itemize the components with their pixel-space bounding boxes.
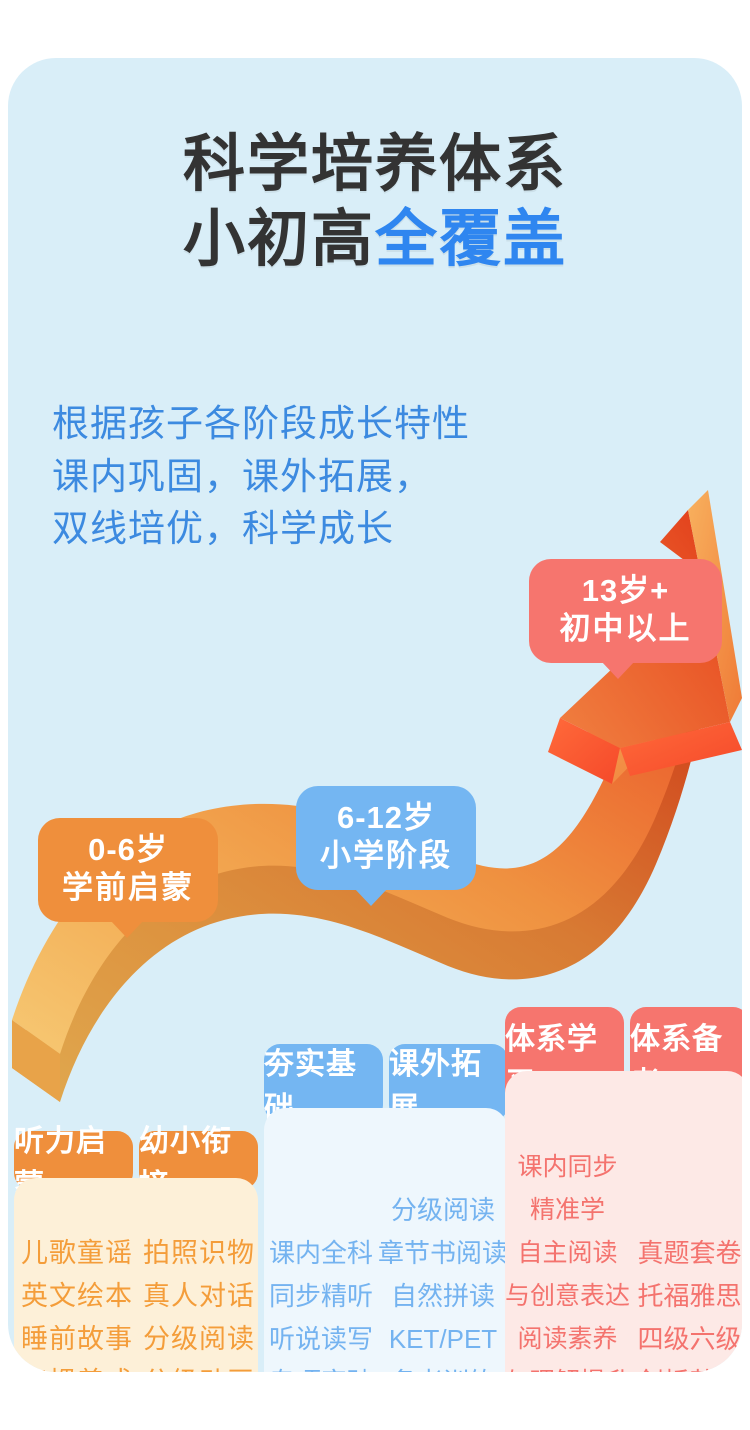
badge-pointer-icon: [110, 920, 144, 938]
list-item[interactable]: 课内同步: [505, 1146, 630, 1189]
badge-pointer-icon: [601, 661, 635, 679]
list-item[interactable]: 自主阅读: [505, 1232, 630, 1275]
panel-column: 课内同步 精准学 自主阅读 与创意表达 阅读素养 与理解提升: [505, 1071, 630, 1372]
list-item[interactable]: 英文绘本: [16, 1275, 138, 1318]
title-line-1: 科学培养体系: [8, 130, 742, 199]
subtitle-line-2: 课内巩固，课外拓展，: [52, 451, 612, 504]
stage-badge-primary[interactable]: 6-12岁 小学阶段: [296, 786, 476, 890]
stage-badge-secondary[interactable]: 13岁+ 初中以上: [529, 559, 722, 663]
list-item[interactable]: 拍照识物: [138, 1232, 258, 1275]
list-item[interactable]: 同步精听: [264, 1275, 378, 1318]
list-item[interactable]: 与创意表达: [505, 1275, 630, 1318]
stage-name-label: 小学阶段: [314, 837, 458, 875]
list-item[interactable]: 习惯养成: [16, 1361, 138, 1372]
list-item[interactable]: 托福雅思: [630, 1275, 742, 1318]
subtitle-block: 根据孩子各阶段成长特性 课内巩固，课外拓展， 双线培优，科学成长: [52, 398, 612, 556]
stage-age-label: 6-12岁: [314, 799, 458, 837]
stage-name-label: 初中以上: [547, 610, 704, 648]
panel-primary: 课内全科 同步精听 听说读写 专项突破 分级阅读 章节书阅读 自然拼读 KET/…: [264, 1108, 508, 1372]
stage-age-label: 0-6岁: [56, 831, 200, 869]
badge-pointer-icon: [354, 888, 388, 906]
list-item[interactable]: 分级阅读: [378, 1189, 508, 1232]
stage-age-label: 13岁+: [547, 572, 704, 610]
list-item[interactable]: 四级六级: [630, 1318, 742, 1361]
arrow-head-bevel: [620, 722, 742, 776]
stage-name-label: 学前启蒙: [56, 869, 200, 907]
panel-secondary: 课内同步 精准学 自主阅读 与创意表达 阅读素养 与理解提升 真题套卷 托福雅思…: [505, 1071, 742, 1372]
title-line-2-plain: 小初高: [183, 205, 375, 274]
stage-badge-preschool[interactable]: 0-6岁 学前启蒙: [38, 818, 218, 922]
arrow-tail-cap: [12, 1020, 60, 1102]
list-item[interactable]: 精准学: [505, 1189, 630, 1232]
page-title: 科学培养体系 小初高全覆盖: [8, 130, 742, 275]
list-item[interactable]: 分级动画: [138, 1361, 258, 1372]
list-item[interactable]: 分级阅读: [138, 1318, 258, 1361]
arrow-head-barb-side: [560, 666, 708, 784]
list-item[interactable]: 真人对话: [138, 1275, 258, 1318]
title-line-2: 小初高全覆盖: [8, 205, 742, 274]
panel-column: 拍照识物 真人对话 分级阅读 分级动画: [138, 1178, 258, 1372]
panel-column: 课内全科 同步精听 听说读写 专项突破: [264, 1108, 378, 1372]
page-root: 科学培养体系 小初高全覆盖 根据孩子各阶段成长特性 课内巩固，课外拓展， 双线培…: [0, 0, 750, 1430]
panel-preschool: 儿歌童谣 英文绘本 睡前故事 习惯养成 拍照识物 真人对话 分级阅读 分级动画: [14, 1178, 258, 1372]
list-item[interactable]: 备考训练: [378, 1361, 508, 1372]
list-item[interactable]: 与理解提升: [505, 1361, 630, 1372]
title-line-2-accent: 全覆盖: [375, 205, 567, 274]
list-item[interactable]: 阅读素养: [505, 1318, 630, 1361]
list-item[interactable]: 听说读写: [264, 1318, 378, 1361]
list-item[interactable]: 课内全科: [264, 1232, 378, 1275]
list-item[interactable]: 章节书阅读: [378, 1232, 508, 1275]
list-item[interactable]: 真题套卷: [630, 1232, 742, 1275]
subtitle-line-1: 根据孩子各阶段成长特性: [52, 398, 612, 451]
panel-column: 儿歌童谣 英文绘本 睡前故事 习惯养成: [16, 1178, 138, 1372]
list-item[interactable]: KET/PET: [378, 1318, 508, 1361]
list-item[interactable]: 睡前故事: [16, 1318, 138, 1361]
panel-column: 分级阅读 章节书阅读 自然拼读 KET/PET 备考训练: [378, 1108, 508, 1372]
subtitle-line-3: 双线培优，科学成长: [52, 503, 612, 556]
list-item[interactable]: 儿歌童谣: [16, 1232, 138, 1275]
panel-column: 真题套卷 托福雅思 四级六级 剑桥英语: [630, 1071, 742, 1372]
list-item[interactable]: 剑桥英语: [630, 1361, 742, 1372]
arrow-head-left-wing: [548, 718, 620, 784]
list-item[interactable]: 自然拼读: [378, 1275, 508, 1318]
content-card: 科学培养体系 小初高全覆盖 根据孩子各阶段成长特性 课内巩固，课外拓展， 双线培…: [8, 58, 742, 1372]
list-item[interactable]: 专项突破: [264, 1361, 378, 1372]
